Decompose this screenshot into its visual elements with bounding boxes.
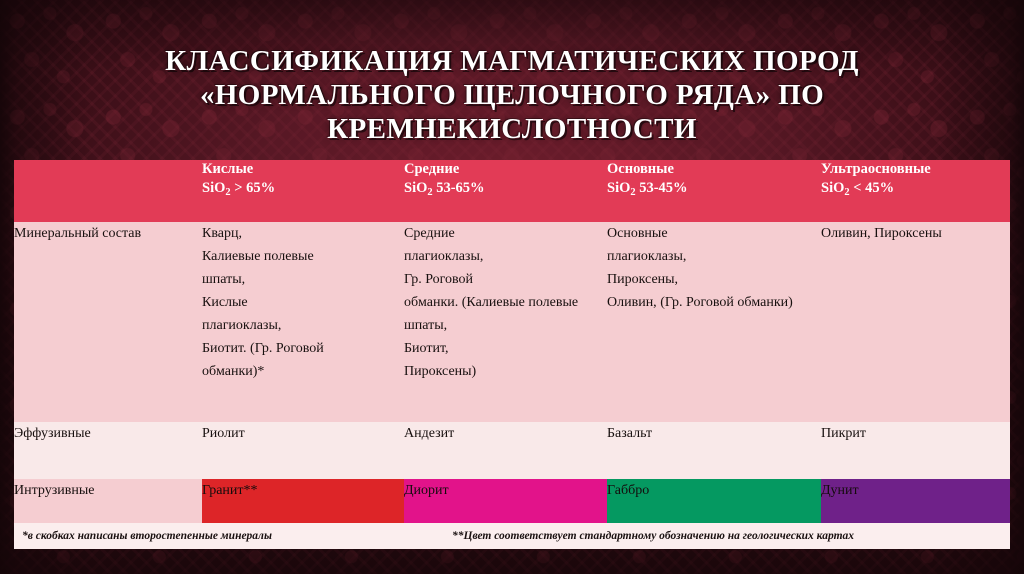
table-row-effusive: Эффузивные Риолит Андезит Базальт Пикрит (14, 422, 1010, 479)
cell-mineral-basic: Основные плагиоклазы, Пироксены, Оливин,… (607, 222, 821, 422)
header-intermediate-formula: SiO2 53-65% (404, 179, 607, 199)
row-label-intrusive: Интрузивные (14, 479, 202, 523)
cell-text-roman: Кварц, Калиевые полевые шпаты, Кислые пл… (202, 226, 314, 356)
cell-text-roman: Оливин, Пироксены (821, 226, 942, 241)
classification-table: Кислые SiO2 > 65% Средние SiO2 53-65% Ос… (14, 160, 1010, 549)
header-basic-name: Основные (607, 161, 674, 177)
cell-effusive-basic: Базальт (607, 422, 821, 479)
formula-value: > 65% (231, 180, 276, 196)
row-label-effusive: Эффузивные (14, 422, 202, 479)
cell-mineral-intermediate: Средние плагиоклазы, Гр. Роговой обманки… (404, 222, 607, 422)
cell-intrusive-dunite: Дунит (821, 479, 1010, 523)
header-ultrabasic-formula: SiO2 < 45% (821, 179, 1010, 199)
cell-mineral-ultrabasic: Оливин, Пироксены (821, 222, 1010, 422)
formula-prefix: SiO (202, 180, 225, 196)
table-footnote-row: *в скобках написаны второстепенные минер… (14, 523, 1010, 549)
formula-value: < 45% (850, 180, 895, 196)
footnote-cell: *в скобках написаны второстепенные минер… (14, 523, 1010, 549)
table-row-mineral-composition: Минеральный состав Кварц, Калиевые полев… (14, 222, 1010, 422)
slide-title: Классификация магматических пород «Норма… (56, 44, 968, 146)
header-cell-intermediate: Средние SiO2 53-65% (404, 160, 607, 222)
header-intermediate-name: Средние (404, 161, 459, 177)
formula-value: 53-45% (636, 180, 688, 196)
formula-subscript: 2 (630, 187, 635, 198)
table-header-row: Кислые SiO2 > 65% Средние SiO2 53-65% Ос… (14, 160, 1010, 222)
table-row-intrusive: Интрузивные Гранит** Диорит Габбро Дунит (14, 479, 1010, 523)
footnote-color-standard: **Цвет соответствует стандартному обозна… (452, 530, 1004, 542)
cell-text-italic: (Гр. Роговой обманки) (660, 295, 793, 310)
cell-effusive-ultrabasic: Пикрит (821, 422, 1010, 479)
footnote-minor-minerals: *в скобках написаны второстепенные минер… (22, 530, 452, 542)
header-cell-acid: Кислые SiO2 > 65% (202, 160, 404, 222)
formula-subscript: 2 (225, 187, 230, 198)
header-acid-name: Кислые (202, 161, 253, 177)
cell-intrusive-granite: Гранит** (202, 479, 404, 523)
cell-intrusive-gabbro: Габбро (607, 479, 821, 523)
formula-subscript: 2 (844, 187, 849, 198)
formula-prefix: SiO (607, 180, 630, 196)
header-ultrabasic-name: Ультраосновные (821, 161, 931, 177)
cell-mineral-acid: Кварц, Калиевые полевые шпаты, Кислые пл… (202, 222, 404, 422)
header-cell-ultrabasic: Ультраосновные SiO2 < 45% (821, 160, 1010, 222)
cell-effusive-intermediate: Андезит (404, 422, 607, 479)
formula-prefix: SiO (404, 180, 427, 196)
header-basic-formula: SiO2 53-45% (607, 179, 821, 199)
formula-value: 53-65% (433, 180, 485, 196)
cell-effusive-acid: Риолит (202, 422, 404, 479)
formula-subscript: 2 (427, 187, 432, 198)
footnote-strip: *в скобках написаны второстепенные минер… (14, 523, 1010, 549)
header-acid-formula: SiO2 > 65% (202, 179, 404, 199)
row-label-mineral-composition: Минеральный состав (14, 222, 202, 422)
header-cell-corner (14, 160, 202, 222)
formula-prefix: SiO (821, 180, 844, 196)
header-cell-basic: Основные SiO2 53-45% (607, 160, 821, 222)
cell-intrusive-diorite: Диорит (404, 479, 607, 523)
